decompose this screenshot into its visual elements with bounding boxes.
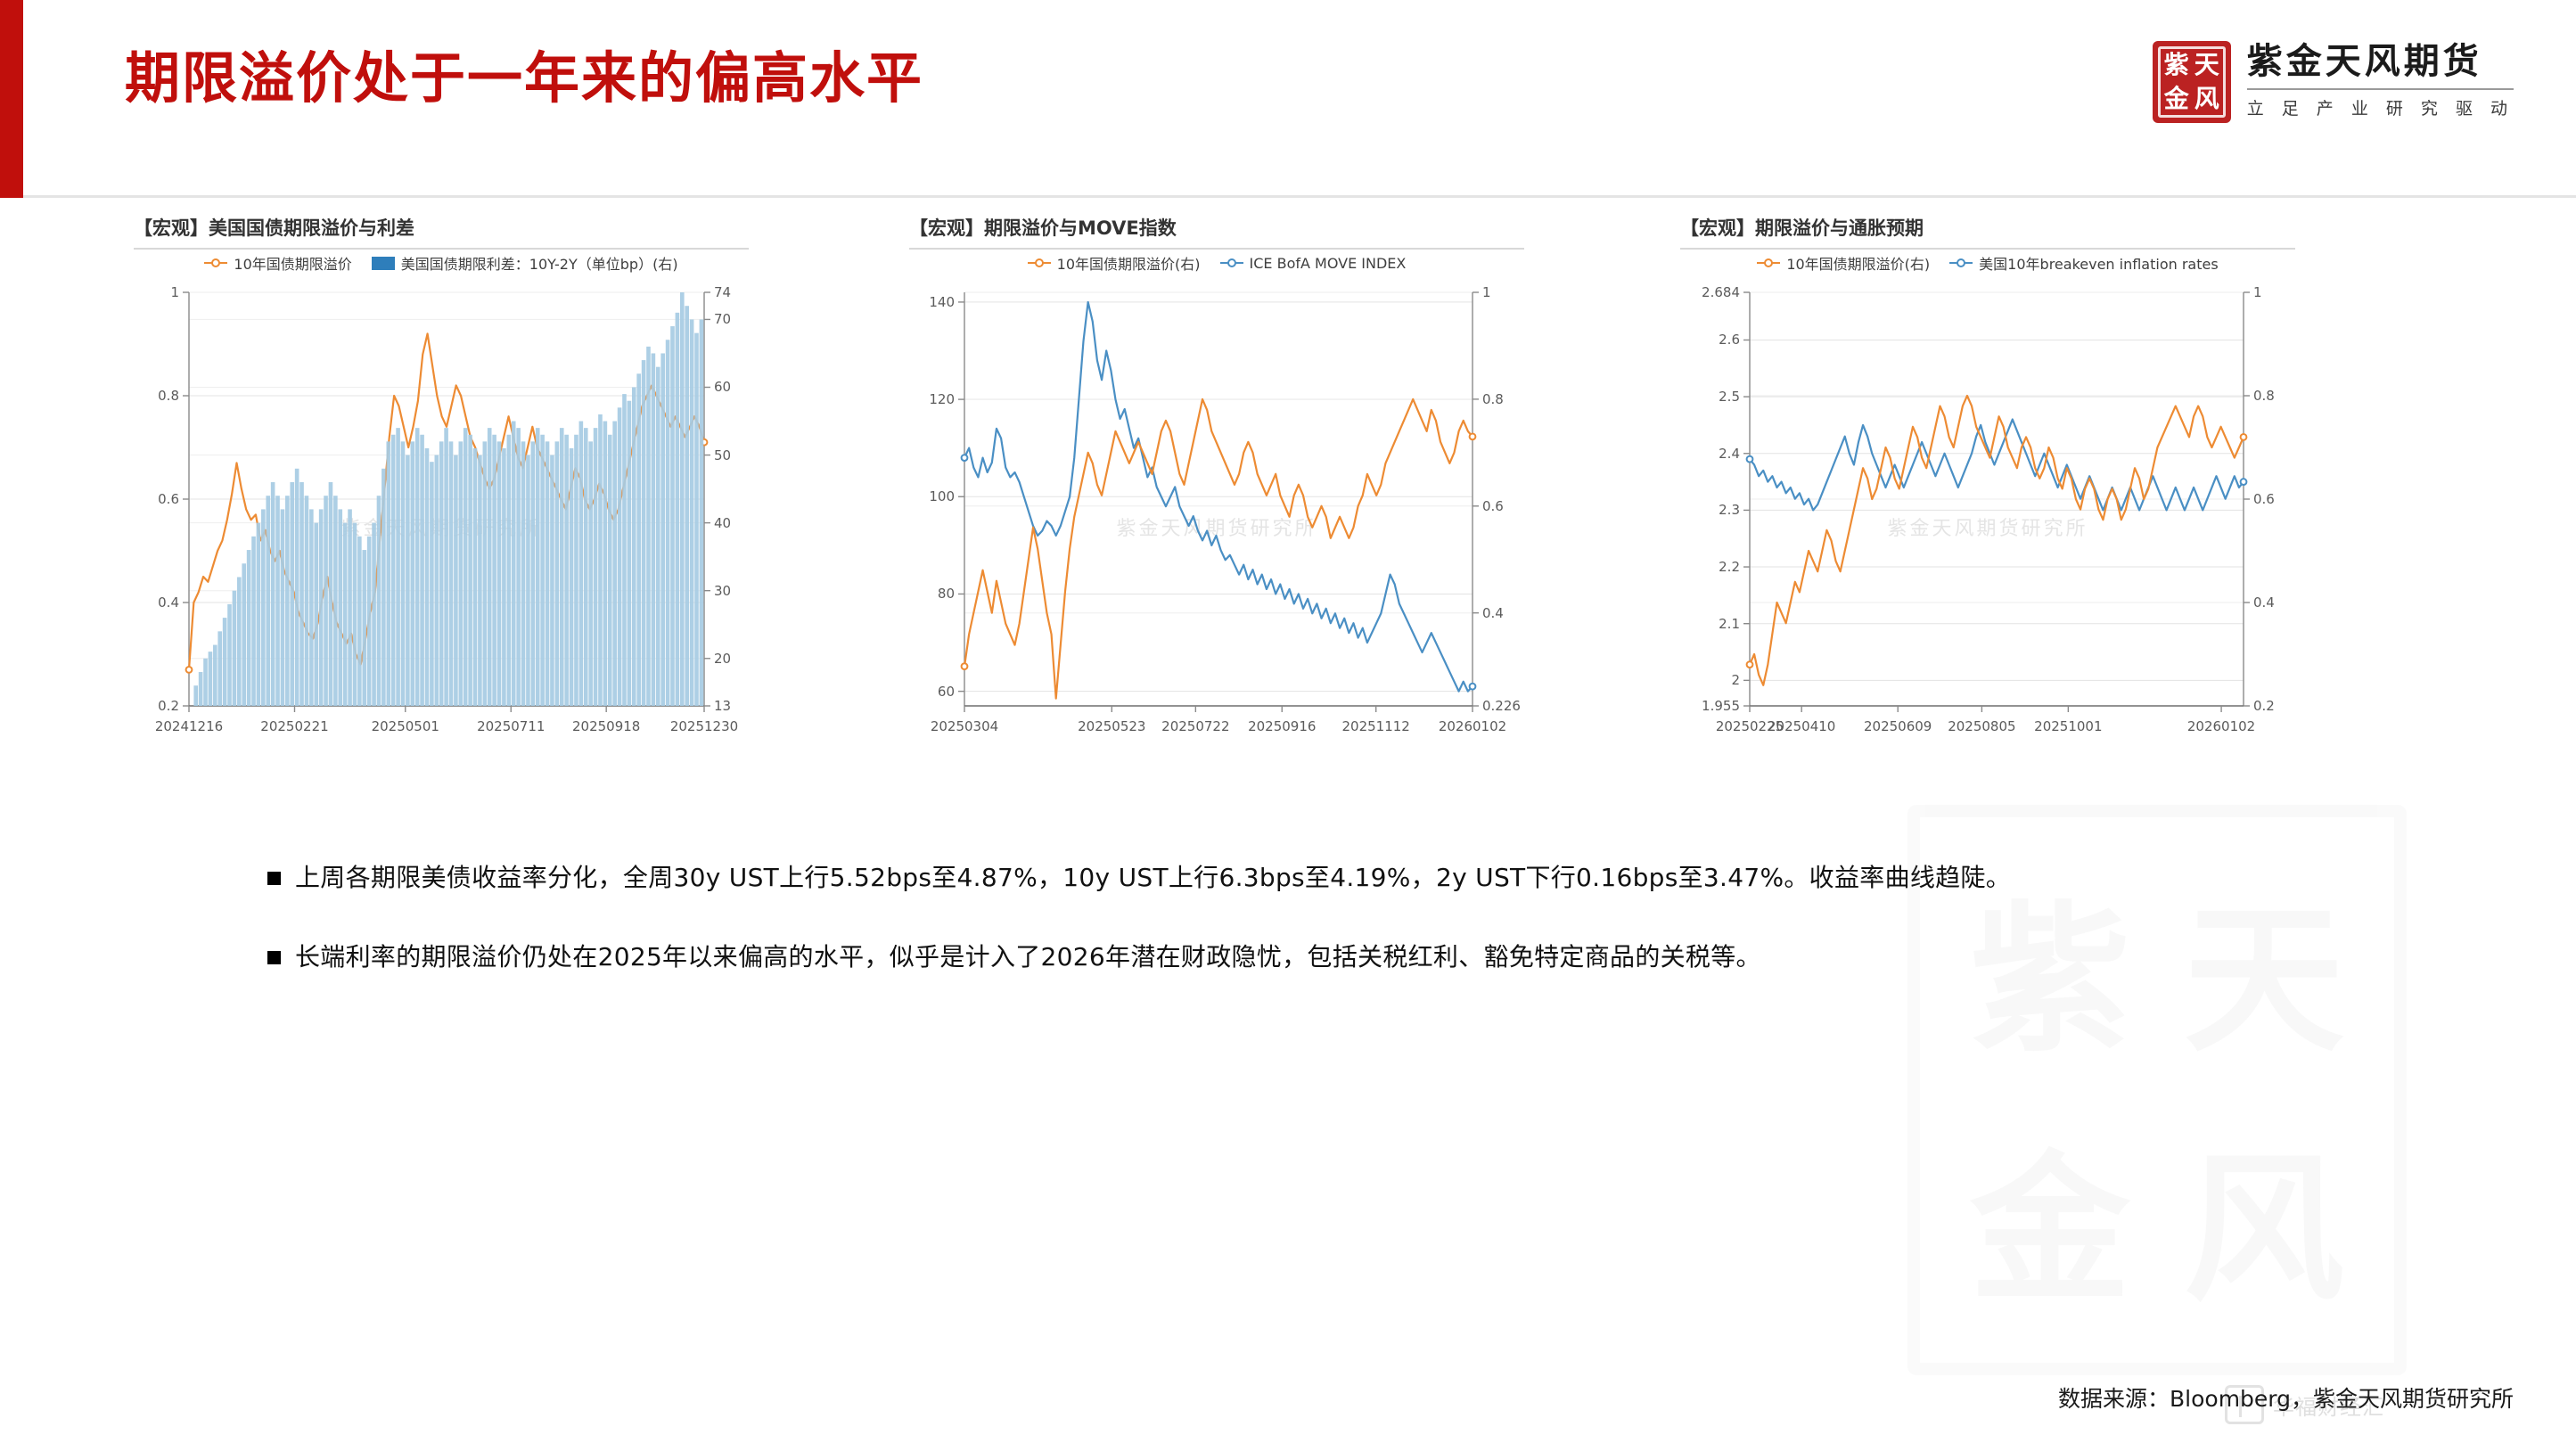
chart-panel-term-premium-move: 【宏观】期限溢价与MOVE指数 10年国债期限溢价(右)ICE BofA MOV… (909, 214, 1694, 766)
legend-line-marker-icon (1949, 258, 1973, 268)
legend-item[interactable]: ICE BofA MOVE INDEX (1220, 255, 1407, 272)
y-axis-left-tick-label: 80 (938, 586, 955, 602)
y-axis-right-tick-label: 70 (714, 311, 731, 327)
x-axis-tick-label: 20251230 (670, 718, 738, 734)
chart-panel-term-premium-spread: 【宏观】美国国债期限溢价与利差 10年国债期限溢价美国国债期限利差：10Y-2Y… (134, 214, 918, 766)
bullet-text: 上周各期限美债收益率分化，全周30y UST上行5.52bps至4.87%，10… (295, 860, 2011, 897)
legend-item[interactable]: 10年国债期限溢价 (204, 252, 351, 274)
y-axis-right-tick-label: 40 (714, 515, 731, 531)
seal-char-1: 紫 (2164, 53, 2189, 78)
seal-char-4: 风 (2195, 86, 2219, 111)
y-axis-left-tick-label: 2.6 (1719, 332, 1740, 348)
y-axis-right-tick-label: 13 (714, 698, 731, 714)
bullet-square-icon (267, 951, 281, 964)
brand-rule-divider (2247, 88, 2514, 90)
x-axis-tick-label: 20241216 (155, 718, 223, 734)
y-axis-left-tick-label: 100 (929, 488, 955, 504)
y-axis-left-tick-label: 2.1 (1719, 616, 1740, 632)
chart-title: 【宏观】期限溢价与MOVE指数 (909, 214, 1694, 241)
brand-seal-icon: 紫 天 金 风 (2153, 41, 2231, 123)
watermark-char-3: 金 (1970, 1099, 2130, 1332)
legend-label: 10年国债期限溢价(右) (1057, 252, 1201, 274)
y-axis-right-tick-label: 0.226 (1482, 698, 1521, 714)
charts-row: 【宏观】美国国债期限溢价与利差 10年国债期限溢价美国国债期限利差：10Y-2Y… (0, 214, 2576, 766)
y-axis-left-tick-label: 140 (929, 294, 955, 310)
y-axis-left-tick-label: 2.2 (1719, 559, 1740, 575)
x-axis-tick-label: 20250410 (1768, 718, 1835, 734)
source-note: 数据来源：Bloomberg，紫金天风期货研究所 (2058, 1381, 2514, 1414)
page-title: 期限溢价处于一年来的偏高水平 (125, 46, 923, 110)
y-axis-right-tick-label: 0.4 (2253, 594, 2275, 611)
y-axis-right-tick-label: 0.4 (1482, 605, 1504, 621)
brand-logo: 紫 天 金 风 紫金天风期货 立 足 产 业 研 究 驱 动 (2153, 41, 2514, 123)
legend-line-marker-icon (1028, 258, 1051, 268)
y-axis-right-tick-label: 60 (714, 379, 731, 395)
title-accent-bar (0, 0, 23, 198)
legend-line-marker-icon (1757, 258, 1780, 268)
y-axis-right-tick-label: 0.6 (2253, 491, 2275, 507)
brand-tagline: 立 足 产 业 研 究 驱 动 (2247, 95, 2514, 119)
x-axis-tick-label: 20251001 (2034, 718, 2102, 734)
plot-area: 紫金天风期货研究所 60801001201400.2260.40.60.8120… (909, 276, 1524, 758)
x-axis-tick-label: 20250523 (1078, 718, 1145, 734)
chart-legend: 10年国债期限溢价美国国债期限利差：10Y-2Y（单位bp）(右) (134, 250, 749, 276)
y-axis-left-tick-label: 0.2 (158, 698, 179, 714)
y-axis-left-tick-label: 60 (938, 684, 955, 700)
x-axis-tick-label: 20260102 (2187, 718, 2255, 734)
legend-item[interactable]: 美国国债期限利差：10Y-2Y（单位bp）(右) (372, 252, 678, 274)
bullet-list: 上周各期限美债收益率分化，全周30y UST上行5.52bps至4.87%，10… (267, 860, 2424, 1018)
y-axis-right-tick-label: 0.6 (1482, 498, 1504, 514)
y-axis-left-tick-label: 2.4 (1719, 446, 1740, 462)
plot-svg (134, 276, 749, 758)
bullet-item: 长端利率的期限溢价仍处在2025年以来偏高的水平，似乎是计入了2026年潜在财政… (267, 939, 2424, 976)
x-axis-tick-label: 20250711 (477, 718, 545, 734)
legend-line-marker-icon (1220, 258, 1243, 268)
x-axis-tick-label: 20250916 (1248, 718, 1316, 734)
chart-title: 【宏观】美国国债期限溢价与利差 (134, 214, 918, 241)
y-axis-right-tick-label: 1 (2253, 284, 2262, 300)
legend-label: 美国10年breakeven inflation rates (1979, 252, 2219, 274)
y-axis-left-tick-label: 0.4 (158, 594, 179, 611)
x-axis-tick-label: 20250805 (1948, 718, 2015, 734)
x-axis-tick-label: 20250609 (1864, 718, 1932, 734)
y-axis-right-tick-label: 0.8 (1482, 391, 1504, 407)
x-axis-tick-label: 20250304 (931, 718, 998, 734)
chart-panel-term-premium-inflation: 【宏观】期限溢价与通胀预期 10年国债期限溢价(右)美国10年breakeven… (1680, 214, 2465, 766)
x-axis-tick-label: 20260102 (1439, 718, 1506, 734)
legend-label: ICE BofA MOVE INDEX (1250, 255, 1407, 272)
y-axis-left-tick-label: 0.6 (158, 491, 179, 507)
legend-label: 10年国债期限溢价(右) (1786, 252, 1930, 274)
y-axis-left-tick-label: 0.8 (158, 388, 179, 404)
y-axis-right-tick-label: 20 (714, 651, 731, 667)
plot-svg (909, 276, 1524, 758)
x-axis-tick-label: 20250501 (372, 718, 439, 734)
x-axis-tick-label: 20250918 (572, 718, 640, 734)
y-axis-left-tick-label: 120 (929, 391, 955, 407)
x-axis-tick-label: 20250722 (1161, 718, 1229, 734)
bullet-text: 长端利率的期限溢价仍处在2025年以来偏高的水平，似乎是计入了2026年潜在财政… (295, 939, 1761, 976)
x-axis-tick-label: 20250221 (260, 718, 328, 734)
y-axis-right-tick-label: 30 (714, 583, 731, 599)
y-axis-right-tick-label: 74 (714, 284, 731, 300)
bullet-item: 上周各期限美债收益率分化，全周30y UST上行5.52bps至4.87%，10… (267, 860, 2424, 897)
legend-swatch-icon (372, 257, 395, 270)
y-axis-right-tick-label: 50 (714, 447, 731, 463)
plot-area: 紫金天风期货研究所 1.95522.12.22.32.42.52.62.6840… (1680, 276, 2295, 758)
brand-text-block: 紫金天风期货 立 足 产 业 研 究 驱 动 (2247, 41, 2514, 119)
y-axis-left-tick-label: 2 (1731, 672, 1740, 688)
plot-area: 紫金天风期货研究所 0.20.40.60.8113203040506070742… (134, 276, 749, 758)
y-axis-right-tick-label: 0.8 (2253, 388, 2275, 404)
y-axis-left-tick-label: 2.3 (1719, 502, 1740, 518)
y-axis-left-tick-label: 2.5 (1719, 389, 1740, 405)
chart-title: 【宏观】期限溢价与通胀预期 (1680, 214, 2465, 241)
chart-legend: 10年国债期限溢价(右)美国10年breakeven inflation rat… (1680, 250, 2295, 276)
y-axis-right-tick-label: 1 (1482, 284, 1491, 300)
legend-line-marker-icon (204, 258, 227, 268)
y-axis-left-tick-label: 1 (170, 284, 179, 300)
watermark-char-4: 风 (2184, 1099, 2344, 1332)
legend-item[interactable]: 美国10年breakeven inflation rates (1949, 252, 2219, 274)
bullet-square-icon (267, 872, 281, 885)
seal-char-3: 金 (2164, 86, 2189, 111)
brand-name: 紫金天风期货 (2247, 41, 2514, 82)
legend-label: 10年国债期限溢价 (234, 252, 351, 274)
x-axis-tick-label: 20251112 (1342, 718, 1410, 734)
chart-legend: 10年国债期限溢价(右)ICE BofA MOVE INDEX (909, 250, 1524, 276)
y-axis-right-tick-label: 0.2 (2253, 698, 2275, 714)
slide-header: 期限溢价处于一年来的偏高水平 紫 天 金 风 紫金天风期货 立 足 产 业 研 … (0, 0, 2576, 198)
legend-label: 美国国债期限利差：10Y-2Y（单位bp）(右) (401, 252, 678, 274)
y-axis-left-tick-label: 2.684 (1702, 284, 1740, 300)
seal-char-2: 天 (2195, 53, 2219, 78)
legend-item[interactable]: 10年国债期限溢价(右) (1028, 252, 1201, 274)
seal-glyph-grid: 紫 天 金 风 (2162, 48, 2222, 116)
legend-item[interactable]: 10年国债期限溢价(右) (1757, 252, 1930, 274)
plot-svg (1680, 276, 2295, 758)
y-axis-left-tick-label: 1.955 (1702, 698, 1740, 714)
